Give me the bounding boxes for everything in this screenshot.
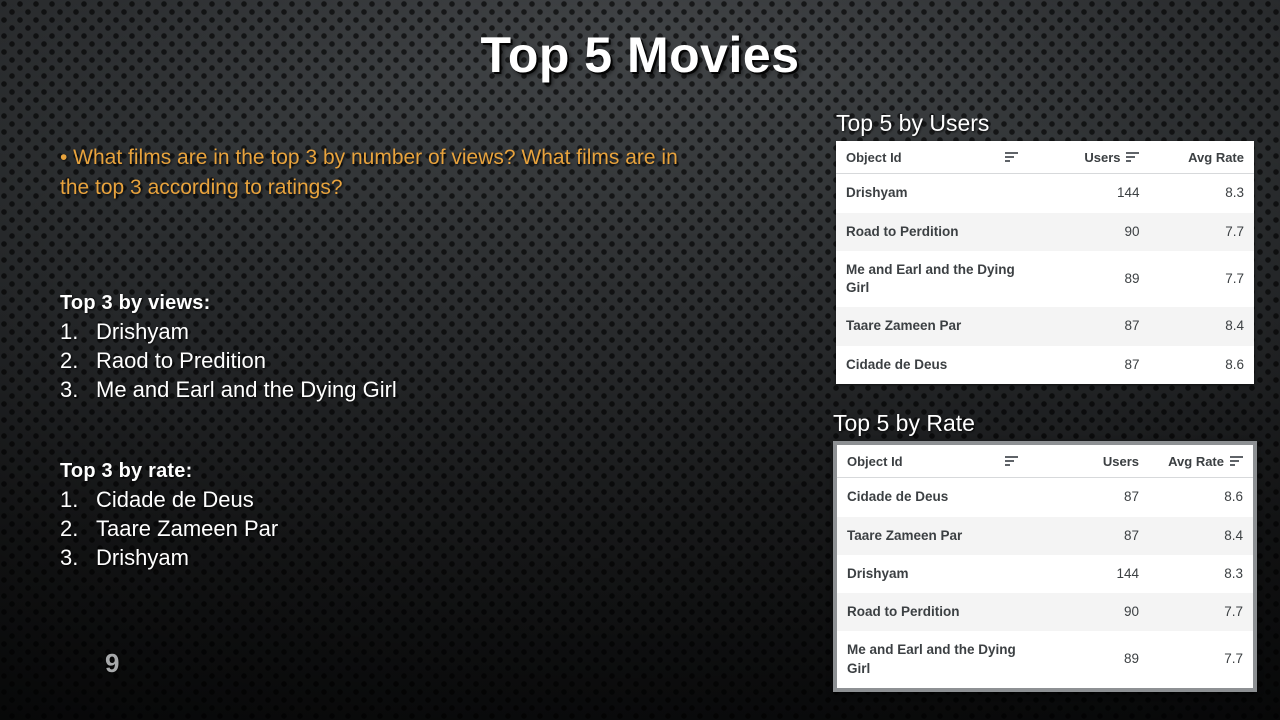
cell-object-id: Road to Perdition <box>837 593 1028 631</box>
sort-icon[interactable] <box>1005 152 1018 163</box>
cell-avg-rate: 8.4 <box>1149 307 1254 345</box>
list-item-label: Drishyam <box>96 317 189 346</box>
top5-by-rate-title: Top 5 by Rate <box>833 410 1257 436</box>
cell-users: 89 <box>1028 631 1149 687</box>
top3-views-block: Top 3 by views: 1. Drishyam 2. Raod to P… <box>60 292 397 404</box>
cell-object-id: Me and Earl and the Dying Girl <box>836 251 1028 307</box>
cell-avg-rate: 8.3 <box>1149 555 1253 593</box>
column-header-users[interactable]: Users <box>1028 445 1149 478</box>
table-row[interactable]: Drishyam 144 8.3 <box>837 555 1253 593</box>
table-row[interactable]: Cidade de Deus 87 8.6 <box>837 478 1253 517</box>
sort-icon[interactable] <box>1005 456 1018 467</box>
cell-object-id: Drishyam <box>837 555 1028 593</box>
cell-users: 90 <box>1028 213 1149 251</box>
cell-users: 144 <box>1028 174 1149 213</box>
list-item-label: Drishyam <box>96 543 189 572</box>
list-item: 1. Drishyam <box>60 317 397 346</box>
cell-object-id: Taare Zameen Par <box>836 307 1028 345</box>
cell-object-id: Taare Zameen Par <box>837 517 1028 555</box>
column-header-object-id[interactable]: Object Id <box>836 141 1028 174</box>
cell-users: 87 <box>1028 478 1149 517</box>
sort-icon[interactable] <box>1230 456 1243 467</box>
table-row[interactable]: Me and Earl and the Dying Girl 89 7.7 <box>837 631 1253 687</box>
cell-avg-rate: 8.3 <box>1149 174 1254 213</box>
column-header-label: Object Id <box>846 150 902 165</box>
list-item-index: 3. <box>60 375 96 404</box>
table-row[interactable]: Road to Perdition 90 7.7 <box>837 593 1253 631</box>
cell-avg-rate: 7.7 <box>1149 593 1253 631</box>
top5-by-rate-widget: Top 5 by Rate Object Id <box>833 410 1257 692</box>
cell-users: 90 <box>1028 593 1149 631</box>
list-item: 2. Taare Zameen Par <box>60 514 278 543</box>
page-number: 9 <box>105 648 119 679</box>
column-header-avg-rate[interactable]: Avg Rate <box>1149 445 1253 478</box>
column-header-label: Object Id <box>847 454 903 469</box>
cell-users: 87 <box>1028 346 1149 384</box>
list-item-label: Raod to Predition <box>96 346 266 375</box>
top5-by-rate-table-frame: Object Id Users Avg Rate <box>833 441 1257 691</box>
page-title: Top 5 Movies <box>0 26 1280 84</box>
list-item: 3. Me and Earl and the Dying Girl <box>60 375 397 404</box>
table-header: Object Id Users Avg Ra <box>836 141 1254 174</box>
top5-by-users-table: Object Id Users Avg Ra <box>836 141 1254 383</box>
column-header-label: Users <box>1103 454 1139 469</box>
top3-rate-list: 1. Cidade de Deus 2. Taare Zameen Par 3.… <box>60 485 278 572</box>
cell-avg-rate: 8.6 <box>1149 346 1254 384</box>
cell-users: 144 <box>1028 555 1149 593</box>
list-item-label: Cidade de Deus <box>96 485 254 514</box>
list-item: 3. Drishyam <box>60 543 278 572</box>
cell-object-id: Cidade de Deus <box>837 478 1028 517</box>
table-body: Cidade de Deus 87 8.6 Taare Zameen Par 8… <box>837 478 1253 688</box>
top3-rate-heading: Top 3 by rate: <box>60 460 278 483</box>
top5-by-rate-table: Object Id Users Avg Rate <box>837 445 1253 687</box>
table-row[interactable]: Road to Perdition 90 7.7 <box>836 213 1254 251</box>
cell-avg-rate: 7.7 <box>1149 213 1254 251</box>
slide-canvas: Top 5 Movies • What films are in the top… <box>0 0 1280 720</box>
list-item-index: 1. <box>60 485 96 514</box>
cell-avg-rate: 8.4 <box>1149 517 1253 555</box>
table-row[interactable]: Me and Earl and the Dying Girl 89 7.7 <box>836 251 1254 307</box>
table-row[interactable]: Taare Zameen Par 87 8.4 <box>836 307 1254 345</box>
list-item-index: 2. <box>60 346 96 375</box>
list-item-index: 1. <box>60 317 96 346</box>
top5-by-users-table-frame: Object Id Users Avg Ra <box>836 141 1254 383</box>
list-item: 1. Cidade de Deus <box>60 485 278 514</box>
top5-by-users-title: Top 5 by Users <box>836 110 1254 136</box>
list-item: 2. Raod to Predition <box>60 346 397 375</box>
list-item-label: Me and Earl and the Dying Girl <box>96 375 397 404</box>
top3-views-list: 1. Drishyam 2. Raod to Predition 3. Me a… <box>60 317 397 404</box>
list-item-label: Taare Zameen Par <box>96 514 278 543</box>
table-row[interactable]: Taare Zameen Par 87 8.4 <box>837 517 1253 555</box>
cell-object-id: Road to Perdition <box>836 213 1028 251</box>
top3-views-heading: Top 3 by views: <box>60 292 397 315</box>
top3-rate-block: Top 3 by rate: 1. Cidade de Deus 2. Taar… <box>60 460 278 572</box>
table-header-row: Object Id Users Avg Ra <box>836 141 1254 174</box>
cell-object-id: Drishyam <box>836 174 1028 213</box>
column-header-label: Users <box>1084 150 1120 165</box>
sort-icon[interactable] <box>1126 152 1139 163</box>
column-header-label: Avg Rate <box>1188 150 1244 165</box>
table-row[interactable]: Drishyam 144 8.3 <box>836 174 1254 213</box>
table-body: Drishyam 144 8.3 Road to Perdition 90 7.… <box>836 174 1254 384</box>
list-item-index: 3. <box>60 543 96 572</box>
cell-users: 89 <box>1028 251 1149 307</box>
table-row[interactable]: Cidade de Deus 87 8.6 <box>836 346 1254 384</box>
column-header-object-id[interactable]: Object Id <box>837 445 1028 478</box>
table-header: Object Id Users Avg Rate <box>837 445 1253 478</box>
cell-users: 87 <box>1028 307 1149 345</box>
cell-object-id: Me and Earl and the Dying Girl <box>837 631 1028 687</box>
cell-avg-rate: 7.7 <box>1149 251 1254 307</box>
table-header-row: Object Id Users Avg Rate <box>837 445 1253 478</box>
column-header-avg-rate[interactable]: Avg Rate <box>1149 141 1254 174</box>
cell-users: 87 <box>1028 517 1149 555</box>
list-item-index: 2. <box>60 514 96 543</box>
bullet-paragraph: • What films are in the top 3 by number … <box>60 143 710 203</box>
column-header-users[interactable]: Users <box>1028 141 1149 174</box>
cell-avg-rate: 8.6 <box>1149 478 1253 517</box>
column-header-label: Avg Rate <box>1168 454 1224 469</box>
cell-object-id: Cidade de Deus <box>836 346 1028 384</box>
cell-avg-rate: 7.7 <box>1149 631 1253 687</box>
top5-by-users-widget: Top 5 by Users Object Id <box>836 110 1254 384</box>
